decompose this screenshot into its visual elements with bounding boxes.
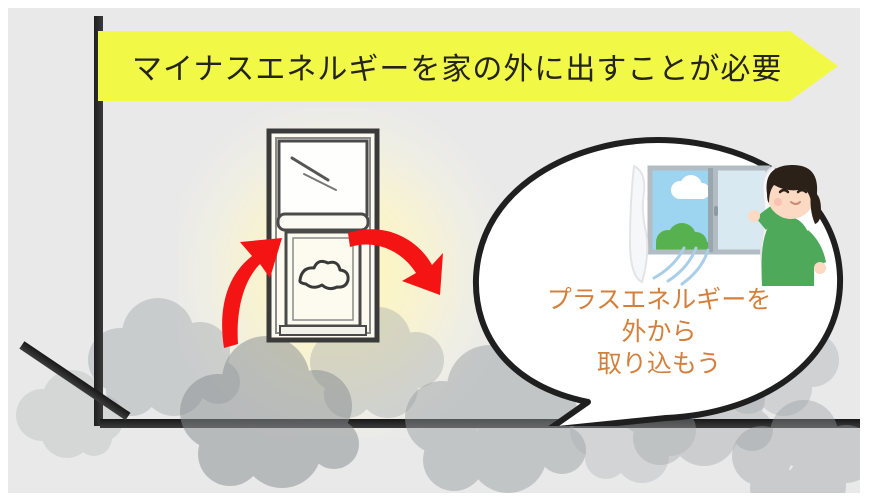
red-arrow-into-window <box>208 226 286 350</box>
speech-bubble: プラスエネルギーを 外から 取り込もう <box>470 136 846 426</box>
headline-banner: マイナスエネルギーを家の外に出すことが必要 <box>98 31 838 101</box>
slide-canvas: プラスエネルギーを 外から 取り込もう マイナスエネルギーを家の外に出すことが必… <box>0 0 876 501</box>
speech-bubble-text: プラスエネルギーを 外から 取り込もう <box>504 284 814 380</box>
red-arrow-out-of-window <box>344 213 446 299</box>
bubble-text-line-3: 取り込もう <box>504 348 814 380</box>
room-stage: プラスエネルギーを 外から 取り込もう マイナスエネルギーを家の外に出すことが必… <box>8 8 860 493</box>
bubble-text-line-1: プラスエネルギーを <box>504 284 814 316</box>
bubble-text-line-2: 外から <box>504 316 814 348</box>
smoke-cloud <box>168 330 364 493</box>
open-window-illustration <box>628 164 833 286</box>
headline-banner-text: マイナスエネルギーを家の外に出すことが必要 <box>132 44 782 88</box>
